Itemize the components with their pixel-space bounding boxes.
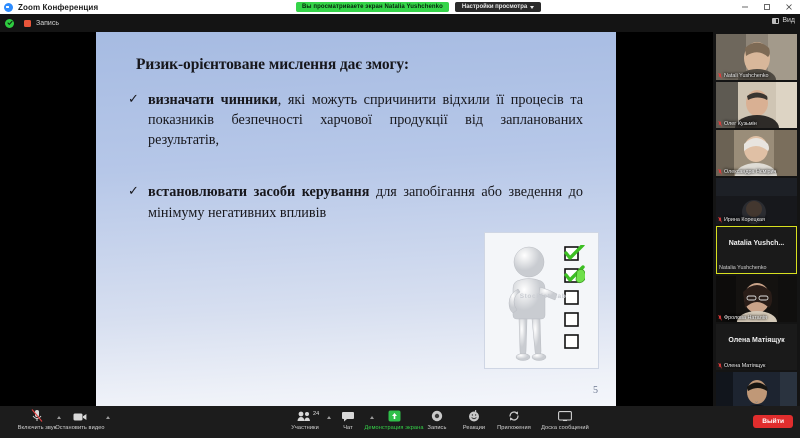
participant-name-1: Олег Кузьмін	[717, 121, 758, 127]
mic-muted-icon	[718, 73, 722, 79]
participant-tile-2[interactable]: Олександра Нємірич	[716, 130, 797, 176]
participant-name-5: Фролова Наталія	[717, 315, 768, 321]
toolbar-whiteboard-button[interactable]: Доска сообщений	[535, 409, 595, 431]
window-controls	[734, 0, 800, 14]
toolbar-video-button[interactable]: Остановить видео	[50, 409, 110, 431]
participants-icon	[297, 409, 313, 422]
participant-tile-1[interactable]: Олег Кузьмін	[716, 82, 797, 128]
participant-name-0: Natali Yushchenko	[717, 73, 770, 79]
layout-view-icon	[772, 18, 779, 24]
app-title: Zoom Конференция	[18, 3, 98, 12]
record-icon	[431, 409, 443, 422]
rail-scroll-down-icon[interactable]: ⌄	[713, 397, 800, 405]
checkmark-icon: ✓	[128, 90, 148, 150]
participant-name-6: Олена Матіящук	[717, 363, 766, 369]
shared-screen-stage: Ризик-орієнтоване мислення дає змогу: ✓ …	[0, 32, 713, 406]
share-screen-icon	[388, 409, 401, 422]
slide-bullet-2-text: встановлювати засоби керування для запоб…	[148, 182, 583, 222]
chat-icon	[342, 409, 354, 422]
mic-muted-icon	[31, 409, 43, 422]
view-options-dropdown[interactable]: Настройки просмотра	[455, 2, 541, 12]
slide-bullet-1-bold: визначати чинники	[148, 92, 278, 108]
recording-label: Запись	[36, 20, 59, 27]
toolbar-chat-label: Чат	[343, 425, 353, 431]
mic-muted-icon	[718, 121, 722, 127]
slide-bullet-2-bold: встановлювати засоби керування	[148, 184, 369, 200]
zoom-logo-icon	[4, 3, 13, 12]
participant-display-name-4: Natalia Yushch...	[717, 240, 796, 247]
share-banner-text: Вы просматриваете экран Natalia Yushchen…	[296, 2, 449, 12]
toolbar-video-label: Остановить видео	[55, 425, 104, 431]
participant-rail[interactable]: Natali Yushchenko Олег Кузьмін	[713, 32, 800, 406]
participant-name-3: Ирина Корецкая	[717, 217, 766, 223]
participant-tile-5[interactable]: Фролова Наталія	[716, 276, 797, 322]
view-label: Вид	[782, 17, 795, 24]
maximize-button[interactable]	[756, 0, 778, 14]
close-button[interactable]	[778, 0, 800, 14]
slide-page-number: 5	[593, 385, 598, 396]
checklist-clipart: Stockfoto.ab	[484, 232, 599, 369]
view-options-label: Настройки просмотра	[462, 4, 527, 10]
mic-muted-icon	[718, 363, 722, 369]
checkmark-icon: ✓	[128, 182, 148, 222]
meeting-toolbar: Включить звук Остановить видео Участники…	[0, 406, 800, 438]
mic-muted-icon	[718, 315, 722, 321]
mic-muted-icon	[718, 217, 722, 223]
participant-display-name-6: Олена Матіящук	[716, 337, 797, 344]
camera-icon	[73, 409, 87, 422]
slide-title: Ризик-орієнтоване мислення дає змогу:	[136, 56, 594, 74]
participant-tile-0[interactable]: Natali Yushchenko	[716, 34, 797, 80]
slide-bullet-2: ✓ встановлювати засоби керування для зап…	[128, 182, 583, 222]
participant-name-2: Олександра Нємірич	[717, 169, 777, 175]
reactions-icon	[468, 409, 480, 422]
participant-subname-4: Natalia Yushchenko	[719, 265, 767, 271]
video-options-caret-icon[interactable]	[106, 416, 110, 419]
participant-tile-6[interactable]: Олена Матіящук Олена Матіящук	[716, 324, 797, 370]
checklist-boxes-icon	[563, 245, 585, 363]
3d-figure-icon	[499, 245, 559, 363]
stop-square-icon[interactable]	[24, 20, 31, 27]
presentation-slide: Ризик-орієнтоване мислення дає змогу: ✓ …	[96, 32, 616, 406]
screen-share-banner: Вы просматриваете экран Natalia Yushchen…	[296, 1, 541, 13]
green-check-icon	[5, 19, 14, 28]
toolbar-participants-label: Участники	[291, 425, 319, 431]
participant-tile-3[interactable]: Ирина Корецкая	[716, 178, 797, 224]
recording-bar: Запись	[0, 14, 800, 32]
minimize-button[interactable]	[734, 0, 756, 14]
toolbar-reactions-label: Реакции	[463, 425, 485, 431]
whiteboard-icon	[558, 409, 572, 422]
slide-bullet-1-text: визначати чинники, які можуть спричинити…	[148, 90, 583, 150]
leave-meeting-button[interactable]: Выйти	[753, 415, 793, 428]
participant-tile-4-active-speaker[interactable]: Natalia Yushch... Natalia Yushchenko	[716, 226, 797, 274]
mic-muted-icon	[718, 169, 722, 175]
apps-icon	[508, 409, 520, 422]
clipart-watermark: Stockfoto.ab	[493, 293, 593, 300]
toolbar-whiteboard-label: Доска сообщений	[541, 425, 589, 431]
chevron-down-icon	[530, 6, 534, 9]
slide-bullet-1: ✓ визначати чинники, які можуть спричини…	[128, 90, 583, 150]
view-button[interactable]: Вид	[772, 17, 795, 24]
zoom-meeting-window: Zoom Конференция Вы просматриваете экран…	[0, 0, 800, 438]
toolbar-apps-label: Приложения	[497, 425, 531, 431]
